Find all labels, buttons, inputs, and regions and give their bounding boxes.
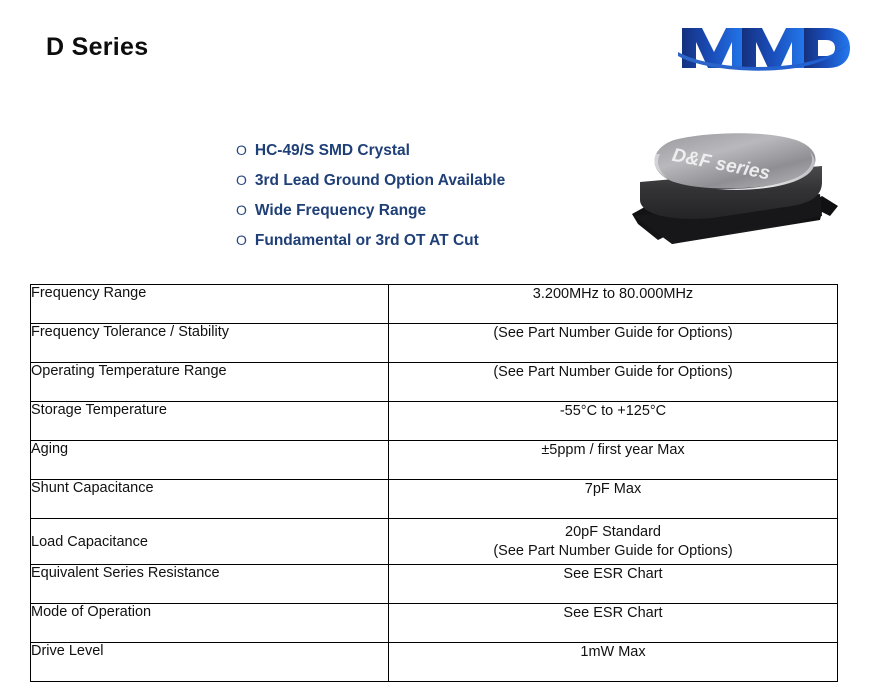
feature-label: 3rd Lead Ground Option Available: [255, 172, 505, 190]
page-title: D Series: [46, 33, 148, 62]
spec-value: (See Part Number Guide for Options): [389, 324, 838, 363]
table-row: Load Capacitance 20pF Standard(See Part …: [31, 519, 838, 565]
table-row: Frequency Tolerance / Stability (See Par…: [31, 324, 838, 363]
spec-label: Equivalent Series Resistance: [31, 565, 389, 604]
feature-label: Wide Frequency Range: [255, 202, 426, 220]
feature-item: O HC-49/S SMD Crystal: [236, 142, 596, 172]
specification-table: Frequency Range 3.200MHz to 80.000MHz Fr…: [30, 284, 838, 682]
feature-label: Fundamental or 3rd OT AT Cut: [255, 232, 479, 250]
crystal-package-icon: D&F series: [616, 120, 856, 265]
spec-value: 20pF Standard(See Part Number Guide for …: [389, 519, 838, 565]
feature-item: O Fundamental or 3rd OT AT Cut: [236, 232, 596, 262]
spec-label: Storage Temperature: [31, 402, 389, 441]
spec-table-body: Frequency Range 3.200MHz to 80.000MHz Fr…: [31, 285, 838, 682]
spec-label: Mode of Operation: [31, 604, 389, 643]
spec-value: ±5ppm / first year Max: [389, 441, 838, 480]
table-row: Frequency Range 3.200MHz to 80.000MHz: [31, 285, 838, 324]
table-row: Equivalent Series Resistance See ESR Cha…: [31, 565, 838, 604]
spec-value: 1mW Max: [389, 643, 838, 682]
spec-label: Frequency Tolerance / Stability: [31, 324, 389, 363]
spec-label: Operating Temperature Range: [31, 363, 389, 402]
spec-label: Frequency Range: [31, 285, 389, 324]
spec-value: 3.200MHz to 80.000MHz: [389, 285, 838, 324]
spec-value: (See Part Number Guide for Options): [389, 363, 838, 402]
spec-value: See ESR Chart: [389, 604, 838, 643]
product-image: D&F series: [616, 120, 856, 265]
feature-item: O 3rd Lead Ground Option Available: [236, 172, 596, 202]
feature-item: O Wide Frequency Range: [236, 202, 596, 232]
spec-label: Shunt Capacitance: [31, 480, 389, 519]
bullet-icon: O: [236, 172, 247, 188]
spec-value: -55°C to +125°C: [389, 402, 838, 441]
bullet-icon: O: [236, 142, 247, 158]
table-row: Operating Temperature Range (See Part Nu…: [31, 363, 838, 402]
spec-label: Aging: [31, 441, 389, 480]
mmd-logo: [676, 18, 852, 76]
feature-label: HC-49/S SMD Crystal: [255, 142, 410, 160]
bullet-icon: O: [236, 202, 247, 218]
mmd-logo-icon: [676, 18, 852, 76]
feature-list: O HC-49/S SMD Crystal O 3rd Lead Ground …: [236, 142, 596, 262]
table-row: Shunt Capacitance 7pF Max: [31, 480, 838, 519]
table-row: Mode of Operation See ESR Chart: [31, 604, 838, 643]
bullet-icon: O: [236, 232, 247, 248]
table-row: Storage Temperature -55°C to +125°C: [31, 402, 838, 441]
spec-label: Drive Level: [31, 643, 389, 682]
table-row: Aging ±5ppm / first year Max: [31, 441, 838, 480]
table-row: Drive Level 1mW Max: [31, 643, 838, 682]
spec-value: 7pF Max: [389, 480, 838, 519]
spec-value: See ESR Chart: [389, 565, 838, 604]
spec-label: Load Capacitance: [31, 519, 389, 565]
